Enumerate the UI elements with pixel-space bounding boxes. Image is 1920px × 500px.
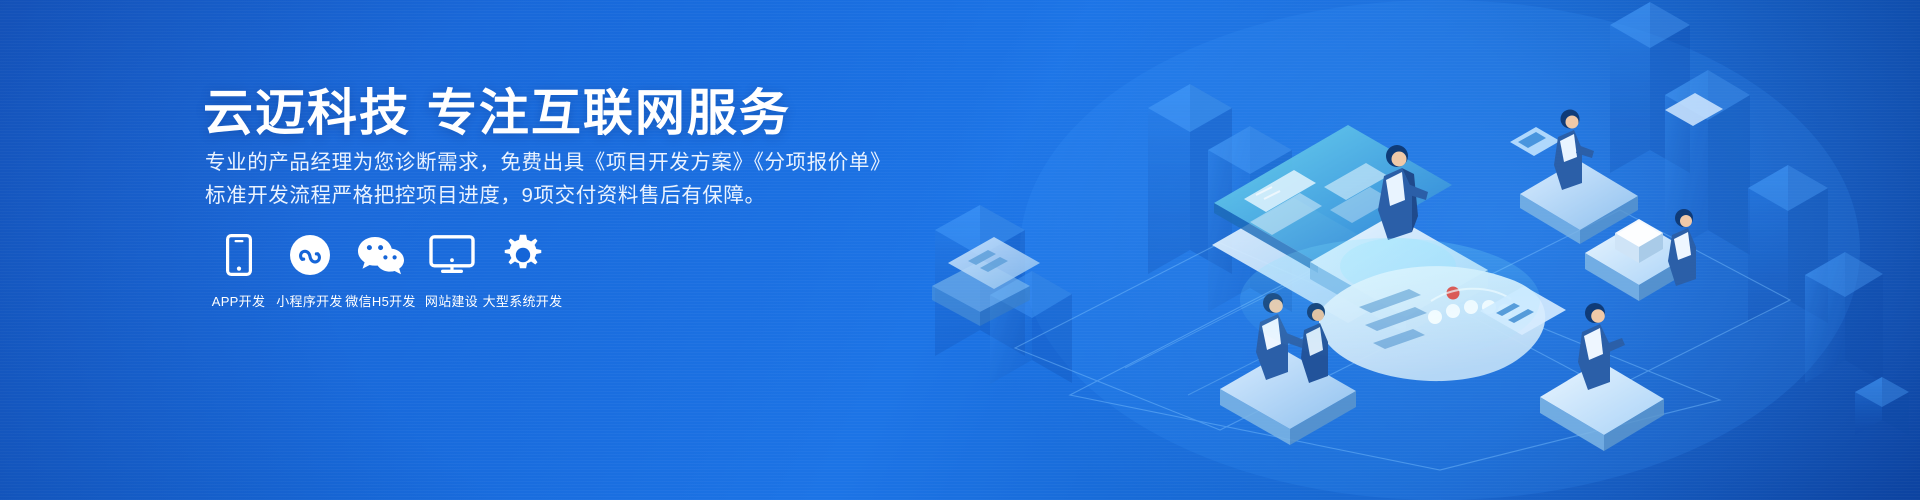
service-item-miniprogram[interactable]: 小程序开发 (274, 232, 345, 310)
service-label-app: APP开发 (212, 291, 266, 310)
service-item-enterprise-system[interactable]: 大型系统开发 (487, 232, 558, 310)
service-item-app[interactable]: APP开发 (203, 232, 274, 310)
banner-subtitle: 专业的产品经理为您诊断需求，免费出具《项目开发方案》《分项报价单》 标准开发流程… (205, 146, 891, 212)
hero-illustration (920, 0, 1920, 500)
wechat-icon (357, 232, 405, 278)
service-label-website: 网站建设 (425, 291, 478, 310)
service-label-miniprogram: 小程序开发 (276, 291, 343, 310)
banner-content: 云迈科技 专注互联网服务 专业的产品经理为您诊断需求，免费出具《项目开发方案》《… (203, 0, 963, 500)
hero-banner: 云迈科技 专注互联网服务 专业的产品经理为您诊断需求，免费出具《项目开发方案》《… (0, 0, 1920, 500)
gear-icon (502, 232, 544, 278)
mini-program-icon (289, 232, 331, 278)
service-item-website[interactable]: 网站建设 (416, 232, 487, 310)
mobile-phone-icon (226, 232, 252, 278)
service-label-wechat-h5: 微信H5开发 (345, 291, 415, 310)
service-label-enterprise-system: 大型系统开发 (483, 291, 563, 310)
service-icon-list: APP开发 小程序开发 (203, 232, 558, 310)
subtitle-line-1: 专业的产品经理为您诊断需求，免费出具《项目开发方案》《分项报价单》 (205, 146, 891, 179)
service-item-wechat-h5[interactable]: 微信H5开发 (345, 232, 416, 310)
monitor-icon (429, 232, 475, 278)
page-title: 云迈科技 专注互联网服务 (203, 73, 791, 145)
subtitle-line-2: 标准开发流程严格把控项目进度，9项交付资料售后有保障。 (205, 179, 891, 212)
